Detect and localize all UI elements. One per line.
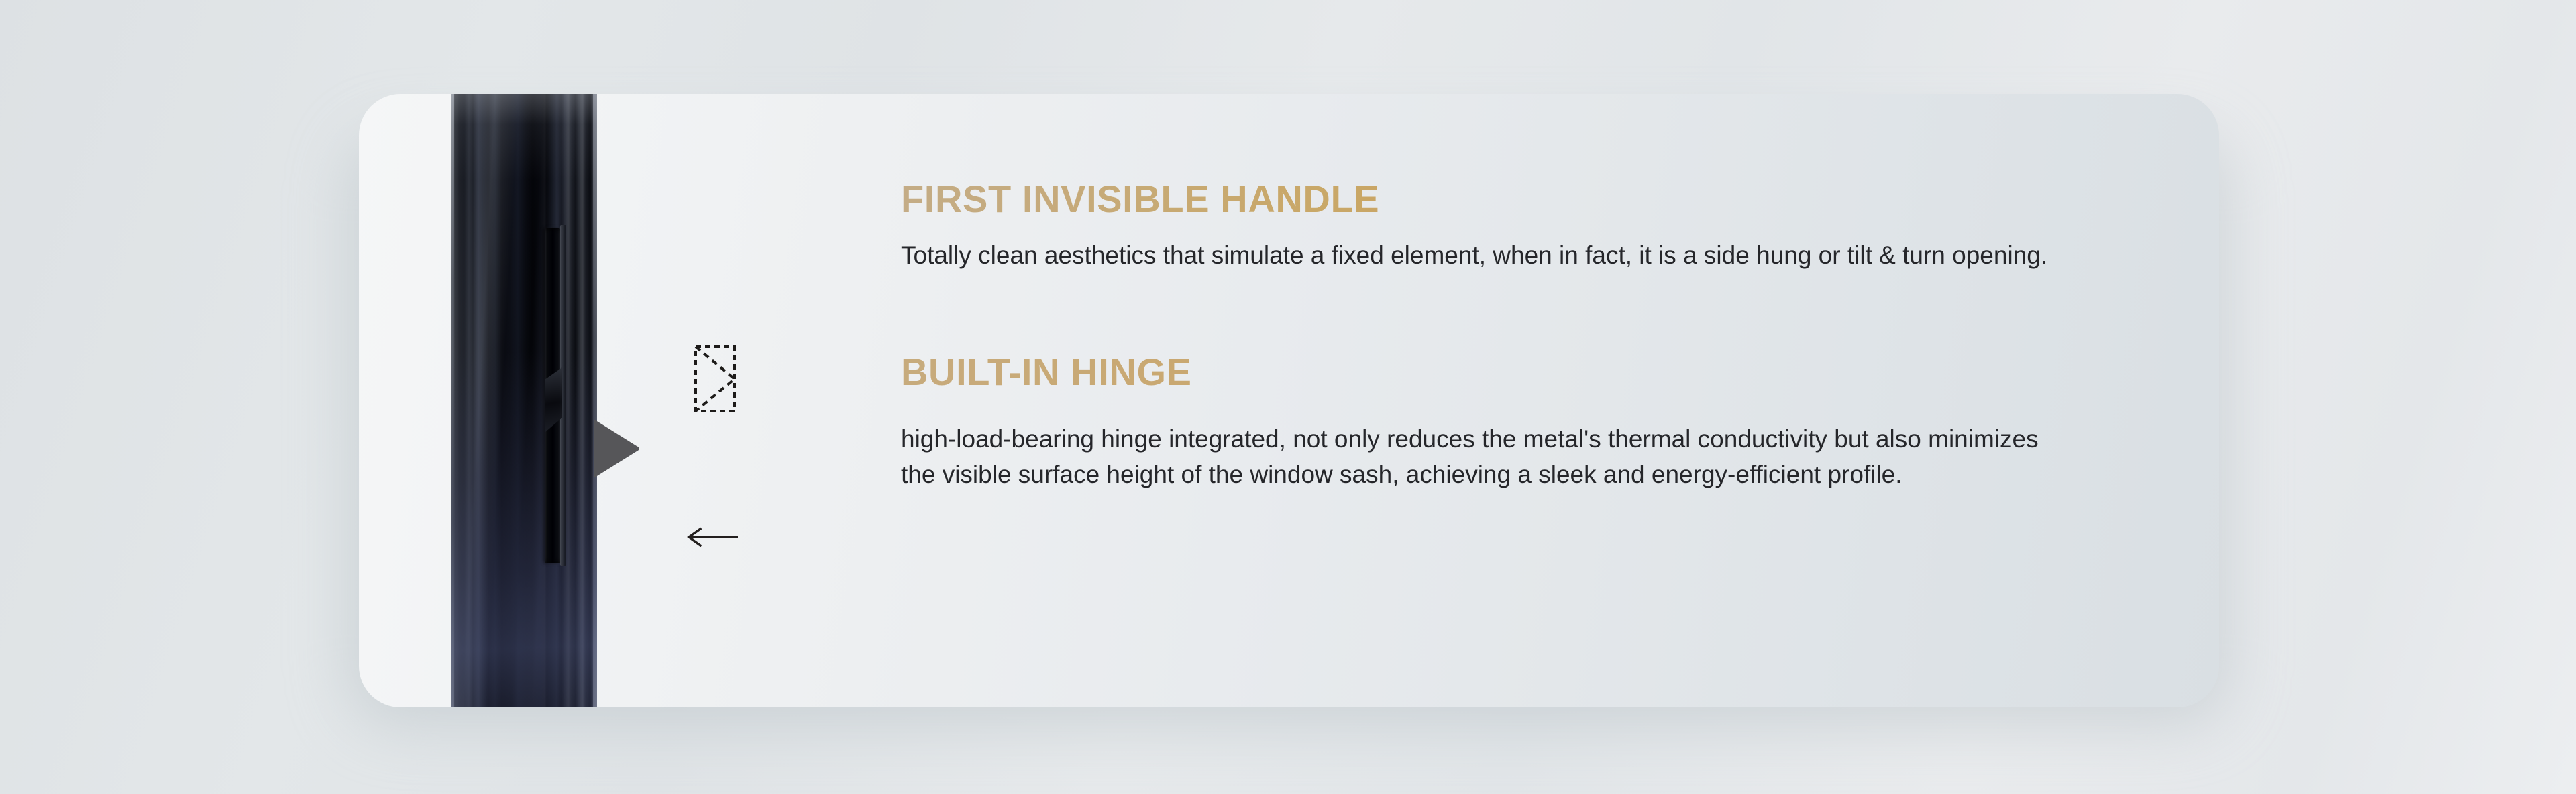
profile-left-edge-highlight [451, 94, 454, 707]
triangle-right-icon [594, 419, 642, 478]
feature-card-stage: FIRST INVISIBLE HANDLE Totally clean aes… [0, 0, 2576, 794]
section-2-body: high-load-bearing hinge integrated, not … [901, 421, 2061, 493]
profile-right-edge-highlight [593, 94, 597, 707]
section-1-heading: FIRST INVISIBLE HANDLE [901, 180, 2082, 219]
section-2-heading: BUILT-IN HINGE [901, 353, 2082, 392]
section-1-body: Totally clean aesthetics that simulate a… [901, 237, 2061, 273]
side-hung-window-symbol [694, 345, 736, 412]
feature-card: FIRST INVISIBLE HANDLE Totally clean aes… [359, 94, 2219, 707]
arrow-left-icon [686, 526, 738, 548]
spacer [901, 392, 2082, 421]
window-profile-photo [451, 94, 597, 707]
feature-text-column: FIRST INVISIBLE HANDLE Totally clean aes… [901, 180, 2082, 492]
profile-top-highlight [451, 94, 597, 707]
spacer [901, 219, 2082, 237]
spacer [901, 274, 2082, 353]
